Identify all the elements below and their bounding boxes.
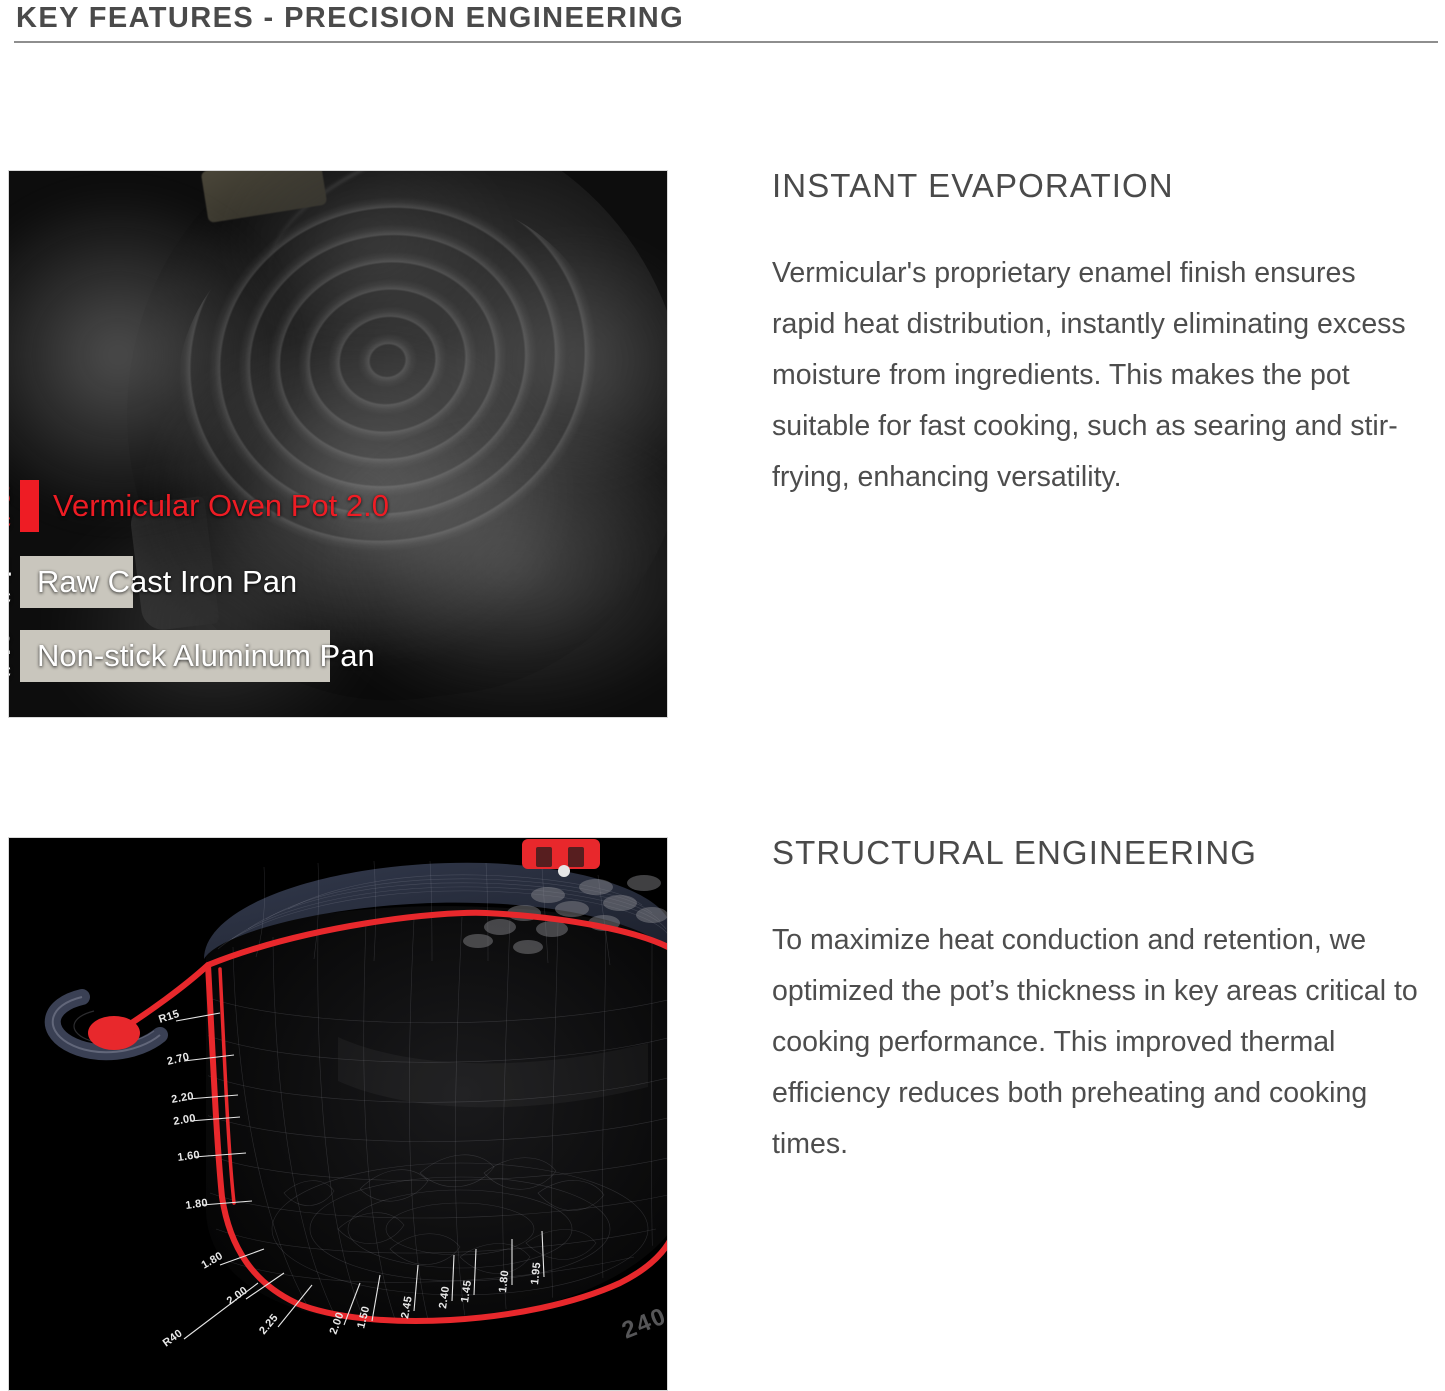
bar-value-number: 94 bbox=[8, 555, 11, 585]
bar-value-number: 3 bbox=[8, 479, 11, 509]
dim-label: 2.25 bbox=[257, 1312, 281, 1337]
feature-row-instant-evaporation: 3 sec Vermicular Oven Pot 2.0 94 sec Raw… bbox=[0, 160, 1445, 730]
instant-evaporation-image: 3 sec Vermicular Oven Pot 2.0 94 sec Raw… bbox=[8, 170, 668, 718]
bar-value-unit: sec bbox=[8, 585, 11, 609]
dim-label: R40 bbox=[161, 1327, 185, 1349]
page-header: KEY FEATURES - PRECISION ENGINEERING bbox=[0, 0, 1445, 46]
bar-value-label: 312 sec bbox=[8, 629, 11, 683]
dim-label: 1.95 bbox=[529, 1262, 543, 1286]
dim-label: 1.60 bbox=[177, 1149, 201, 1164]
feature-heading: STRUCTURAL ENGINEERING bbox=[772, 835, 1432, 871]
dim-label: 2.00 bbox=[172, 1112, 196, 1128]
bar-category-label: Raw Cast Iron Pan bbox=[37, 564, 297, 600]
pot-side-handle-wireframe bbox=[53, 997, 160, 1052]
page-title: KEY FEATURES - PRECISION ENGINEERING bbox=[16, 2, 684, 35]
bar-value-label: 94 sec bbox=[8, 555, 11, 609]
dim-label: 2.20 bbox=[170, 1090, 194, 1106]
dim-label: 1.80 bbox=[185, 1197, 209, 1212]
dim-label: R15 bbox=[157, 1008, 181, 1026]
dim-label: 2.00 bbox=[225, 1284, 250, 1307]
bar-value-number: 312 bbox=[8, 629, 11, 659]
dim-label: 1.80 bbox=[497, 1270, 511, 1294]
instant-evaporation-copy: INSTANT EVAPORATION Vermicular's proprie… bbox=[772, 168, 1422, 503]
dim-label: 2.70 bbox=[166, 1051, 191, 1068]
pot-body-fill bbox=[206, 906, 668, 1323]
header-divider bbox=[14, 41, 1438, 43]
bar-category-label: Vermicular Oven Pot 2.0 bbox=[53, 488, 389, 524]
cad-branding-emboss: 240 bbox=[618, 1302, 668, 1344]
evaporation-time-bar-chart: 3 sec Vermicular Oven Pot 2.0 94 sec Raw… bbox=[20, 475, 660, 690]
structural-engineering-image: R15 2.70 2.20 2.00 bbox=[8, 837, 668, 1391]
feature-body: To maximize heat conduction and retentio… bbox=[772, 915, 1432, 1170]
cad-wireframe-svg: R15 2.70 2.20 2.00 bbox=[8, 837, 668, 1391]
bar-value-unit: sec bbox=[8, 509, 11, 533]
feature-body: Vermicular's proprietary enamel finish e… bbox=[772, 248, 1422, 503]
bar-value-unit: sec bbox=[8, 659, 11, 683]
structural-engineering-copy: STRUCTURAL ENGINEERING To maximize heat … bbox=[772, 835, 1432, 1170]
bar-category-label: Non-stick Aluminum Pan bbox=[37, 638, 375, 674]
cad-wireframe-illustration: R15 2.70 2.20 2.00 bbox=[8, 837, 668, 1391]
feature-row-structural-engineering: R15 2.70 2.20 2.00 bbox=[0, 830, 1445, 1391]
bar-value-label: 3 sec bbox=[8, 479, 11, 533]
feature-heading: INSTANT EVAPORATION bbox=[772, 168, 1422, 204]
chart-bar bbox=[20, 480, 39, 532]
